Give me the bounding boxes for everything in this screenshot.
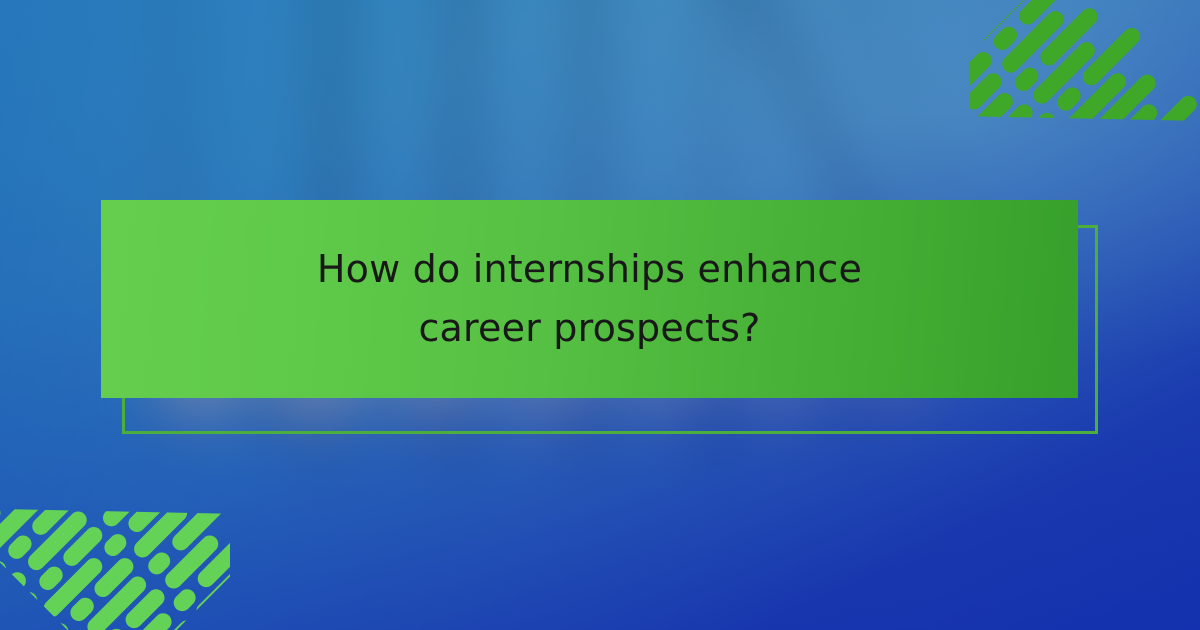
question-card: How do internships enhance career prospe… bbox=[101, 200, 1078, 398]
social-card-canvas: How do internships enhance career prospe… bbox=[0, 0, 1200, 630]
question-title: How do internships enhance career prospe… bbox=[270, 240, 910, 358]
